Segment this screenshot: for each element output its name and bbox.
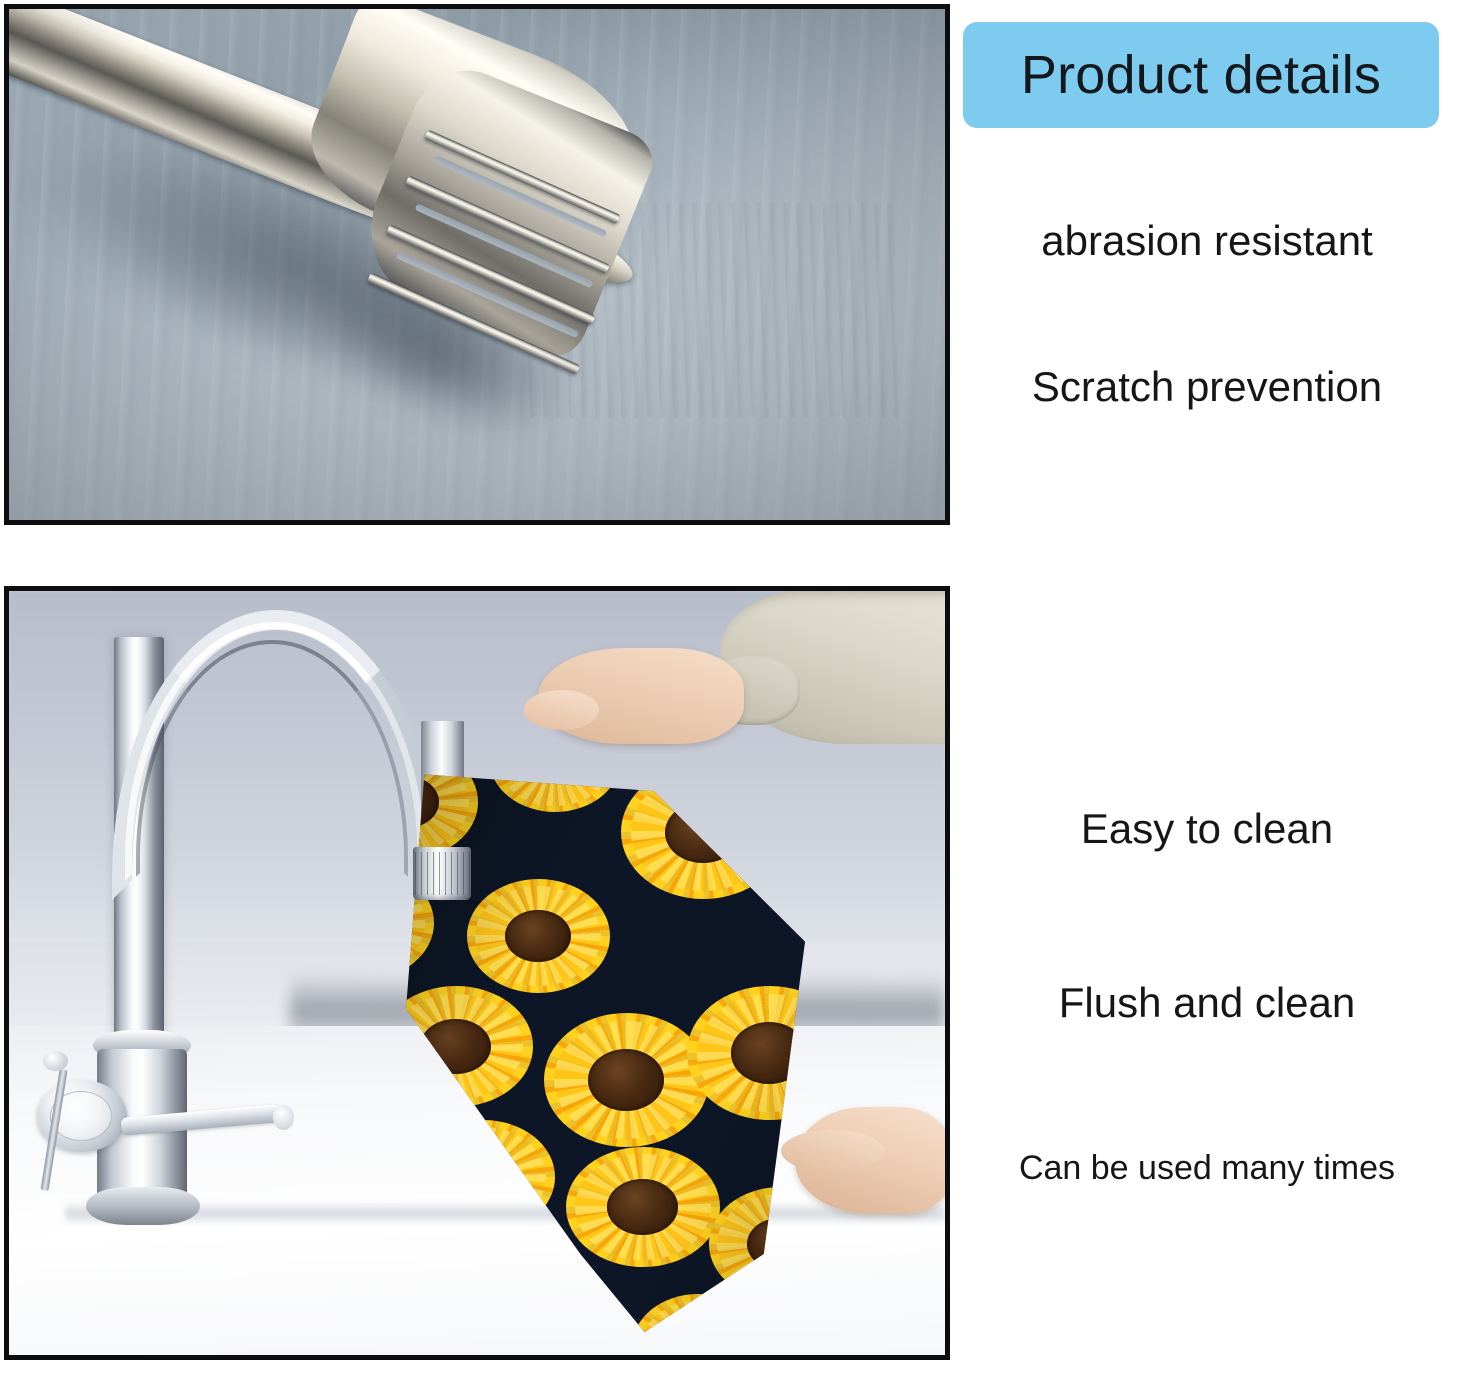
product-details-badge-label: Product details <box>1021 48 1381 102</box>
feature-text-rail: Product details abrasion resistant Scrat… <box>957 0 1457 1374</box>
product-details-badge: Product details <box>963 22 1439 128</box>
faucet-photo-canvas <box>9 591 945 1355</box>
faucet-aerator-grooves <box>413 852 471 895</box>
model-fingers-upper <box>524 690 599 730</box>
product-details-page: Product details abrasion resistant Scrat… <box>0 0 1457 1374</box>
fork-photo-canvas <box>9 9 945 520</box>
feature-flush-and-clean: Flush and clean <box>957 980 1457 1026</box>
product-photo-fork <box>4 4 950 525</box>
feature-scratch-prevention: Scratch prevention <box>957 364 1457 410</box>
feature-can-be-used-many-times: Can be used many times <box>957 1150 1457 1187</box>
feature-abrasion-resistant: abrasion resistant <box>957 218 1457 264</box>
photo-vignette <box>9 9 945 520</box>
feature-easy-to-clean: Easy to clean <box>957 806 1457 852</box>
faucet-lever-tip <box>273 1105 294 1129</box>
faucet-base-escutcheon <box>86 1187 200 1225</box>
popup-drain-knob <box>43 1051 68 1071</box>
product-photo-faucet-mat <box>4 586 950 1360</box>
model-fingers-lower <box>781 1130 884 1173</box>
